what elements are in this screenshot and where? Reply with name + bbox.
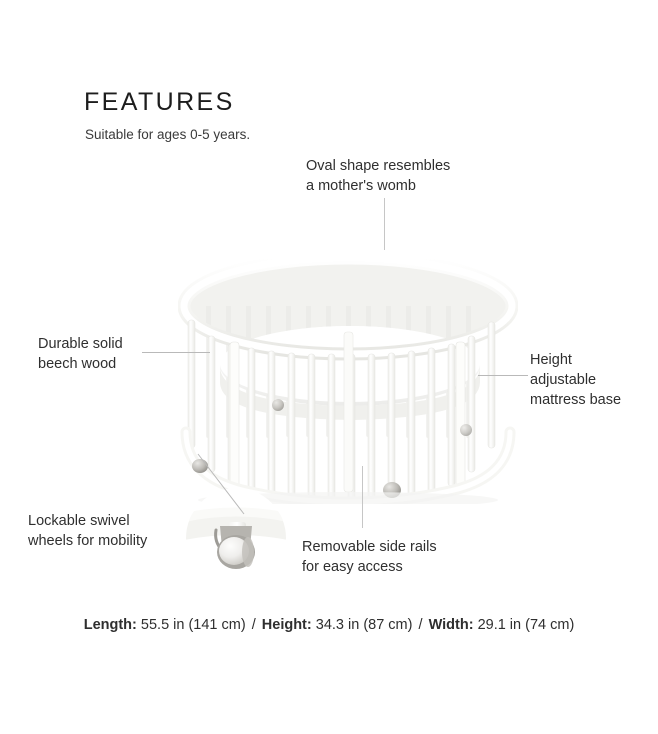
height-value: 34.3 in (87 cm) xyxy=(316,617,413,633)
dimension-separator-1: / xyxy=(250,617,258,633)
dimension-separator-2: / xyxy=(417,617,425,633)
callout-mattress-base: Height adjustable mattress base xyxy=(530,350,621,410)
width-value: 29.1 in (74 cm) xyxy=(478,617,575,633)
leader-line-swivel-wheels xyxy=(196,452,252,518)
callout-beech-wood: Durable solid beech wood xyxy=(38,334,123,374)
leader-line-mattress-base xyxy=(478,375,528,376)
length-value: 55.5 in (141 cm) xyxy=(141,617,246,633)
width-label: Width: xyxy=(429,617,474,633)
callout-swivel-wheels: Lockable swivel wheels for mobility xyxy=(28,511,147,551)
leader-line-beech-wood xyxy=(142,352,210,353)
page-subtitle: Suitable for ages 0-5 years. xyxy=(85,126,250,144)
leader-line-oval-shape xyxy=(384,198,385,250)
height-label: Height: xyxy=(262,617,312,633)
callout-oval-shape: Oval shape resembles a mother's womb xyxy=(306,156,450,196)
dimensions-summary: Length: 55.5 in (141 cm) / Height: 34.3 … xyxy=(0,617,658,633)
leader-line-side-rails xyxy=(362,466,363,528)
callout-side-rails: Removable side rails for easy access xyxy=(302,537,437,577)
features-page: FEATURES Suitable for ages 0-5 years. xyxy=(0,0,658,734)
page-title: FEATURES xyxy=(84,90,235,115)
length-label: Length: xyxy=(84,617,137,633)
